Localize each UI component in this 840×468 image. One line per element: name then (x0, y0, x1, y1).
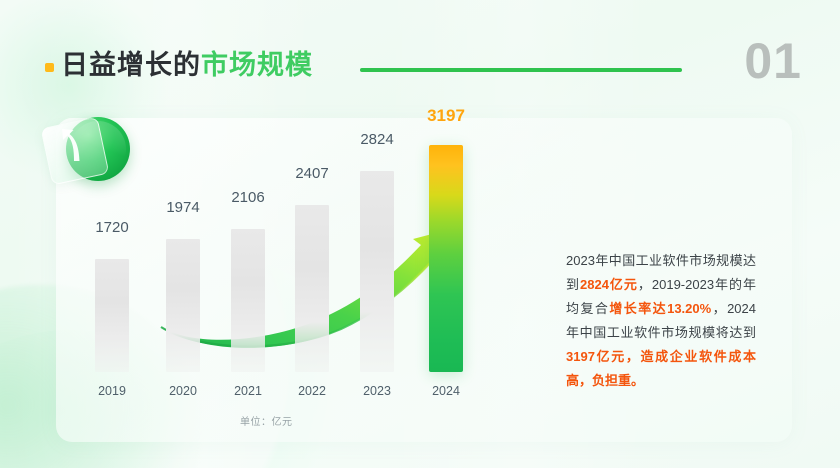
bar-value-2019: 1720 (73, 219, 151, 236)
bar-year-2024: 2024 (407, 384, 485, 398)
growth-arrow-icon (60, 128, 90, 162)
bar-year-2019: 2019 (73, 384, 151, 398)
bar-year-2023: 2023 (338, 384, 416, 398)
bar-2024[interactable] (429, 145, 463, 372)
bar-2020[interactable] (166, 239, 200, 372)
market-summary-text: 2023年中国工业软件市场规模达到2824亿元，2019-2023年的年均复合增… (566, 249, 756, 393)
page-title-dark: 日益增长的 (61, 50, 201, 80)
bar-2023[interactable] (360, 171, 394, 372)
square-dot-icon (45, 63, 54, 72)
page-title-green: 市场规模 (201, 50, 313, 80)
info-highlight-cagr: 增长率达13.20% (609, 301, 711, 316)
bar-2022[interactable] (295, 205, 329, 372)
info-highlight-2824: 2824亿元 (580, 277, 638, 292)
market-size-bar-chart: 1720 2019 1974 2020 2106 2021 2407 2022 … (95, 140, 495, 400)
page-header: 日益增长的市场规模 01 (0, 0, 840, 118)
section-number: 01 (744, 33, 802, 89)
chart-unit-label: 单位：亿元 (240, 413, 293, 428)
page-title: 日益增长的市场规模 (61, 48, 313, 82)
bar-value-2021: 2106 (209, 189, 287, 206)
title-divider-line (360, 68, 682, 72)
bar-2019[interactable] (95, 259, 129, 372)
bar-2021[interactable] (231, 229, 265, 372)
bar-value-2024: 3197 (407, 106, 485, 126)
info-highlight-3197: 3197亿元，造成企业软件成本高，负担重。 (566, 349, 756, 388)
bar-value-2023: 2824 (338, 131, 416, 148)
bar-value-2022: 2407 (273, 165, 351, 182)
